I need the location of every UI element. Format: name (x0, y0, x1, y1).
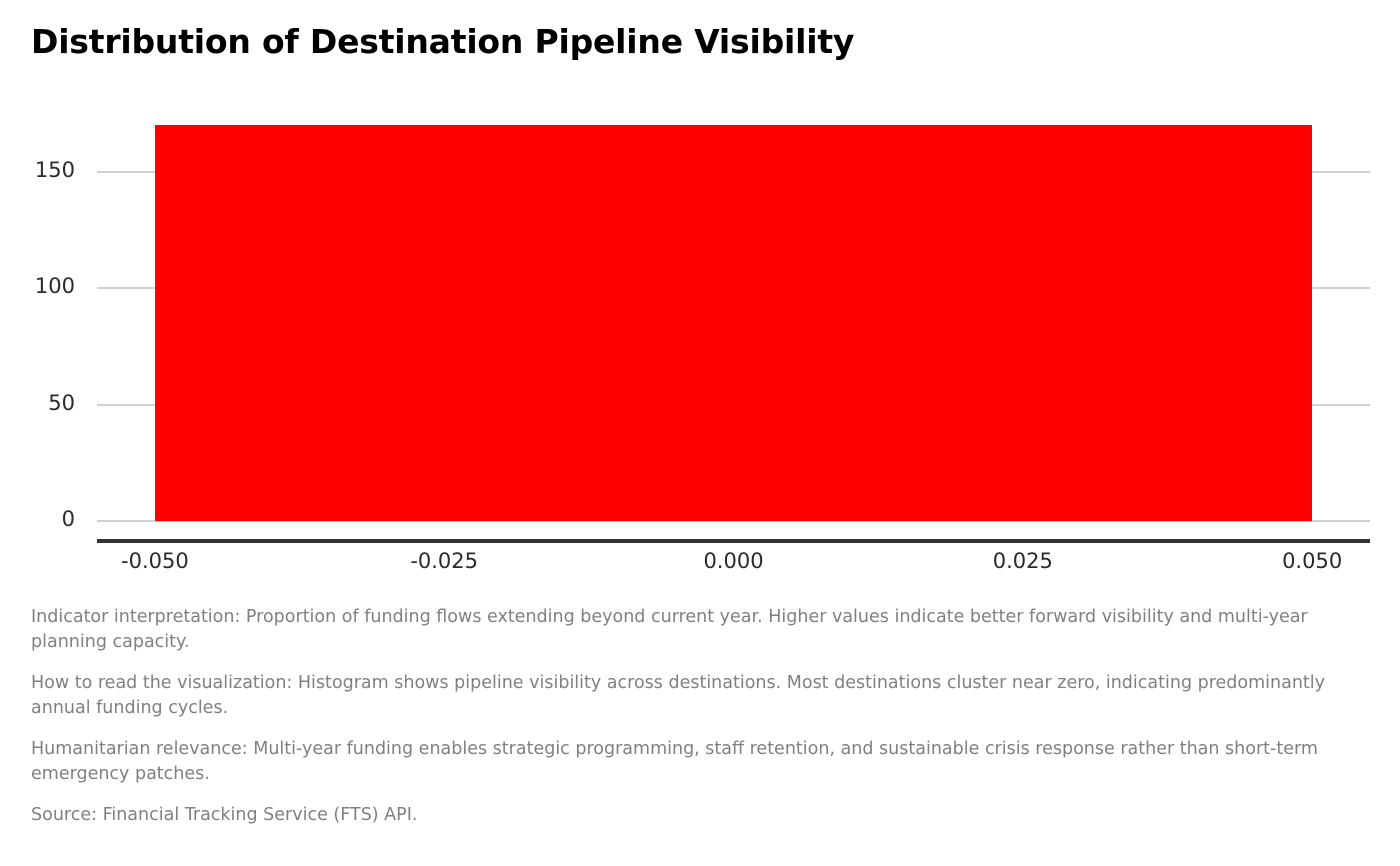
x-tick-label: 0.025 (993, 549, 1053, 573)
histogram-figure: Distribution of Destination Pipeline Vis… (0, 0, 1400, 866)
x-tick-label: 0.050 (1282, 549, 1342, 573)
note-indicator-interpretation: Indicator interpretation: Proportion of … (31, 605, 1341, 655)
x-axis-spine (97, 539, 1370, 543)
footnotes-block: Indicator interpretation: Proportion of … (31, 605, 1361, 828)
y-tick-label: 100 (35, 274, 75, 298)
note-humanitarian-relevance: Humanitarian relevance: Multi-year fundi… (31, 737, 1341, 787)
note-how-to-read: How to read the visualization: Histogram… (31, 671, 1341, 721)
page-title: Distribution of Destination Pipeline Vis… (31, 22, 854, 61)
y-tick-label: 50 (48, 391, 75, 415)
x-tick-label: -0.050 (121, 549, 189, 573)
y-tick-label: 150 (35, 158, 75, 182)
y-tick-label: 0 (62, 507, 75, 531)
histogram-bar (155, 125, 1312, 521)
plot-area: 050100150 (97, 100, 1370, 541)
note-source: Source: Financial Tracking Service (FTS)… (31, 803, 1341, 828)
x-tick-label: -0.025 (410, 549, 478, 573)
x-tick-label: 0.000 (703, 549, 763, 573)
